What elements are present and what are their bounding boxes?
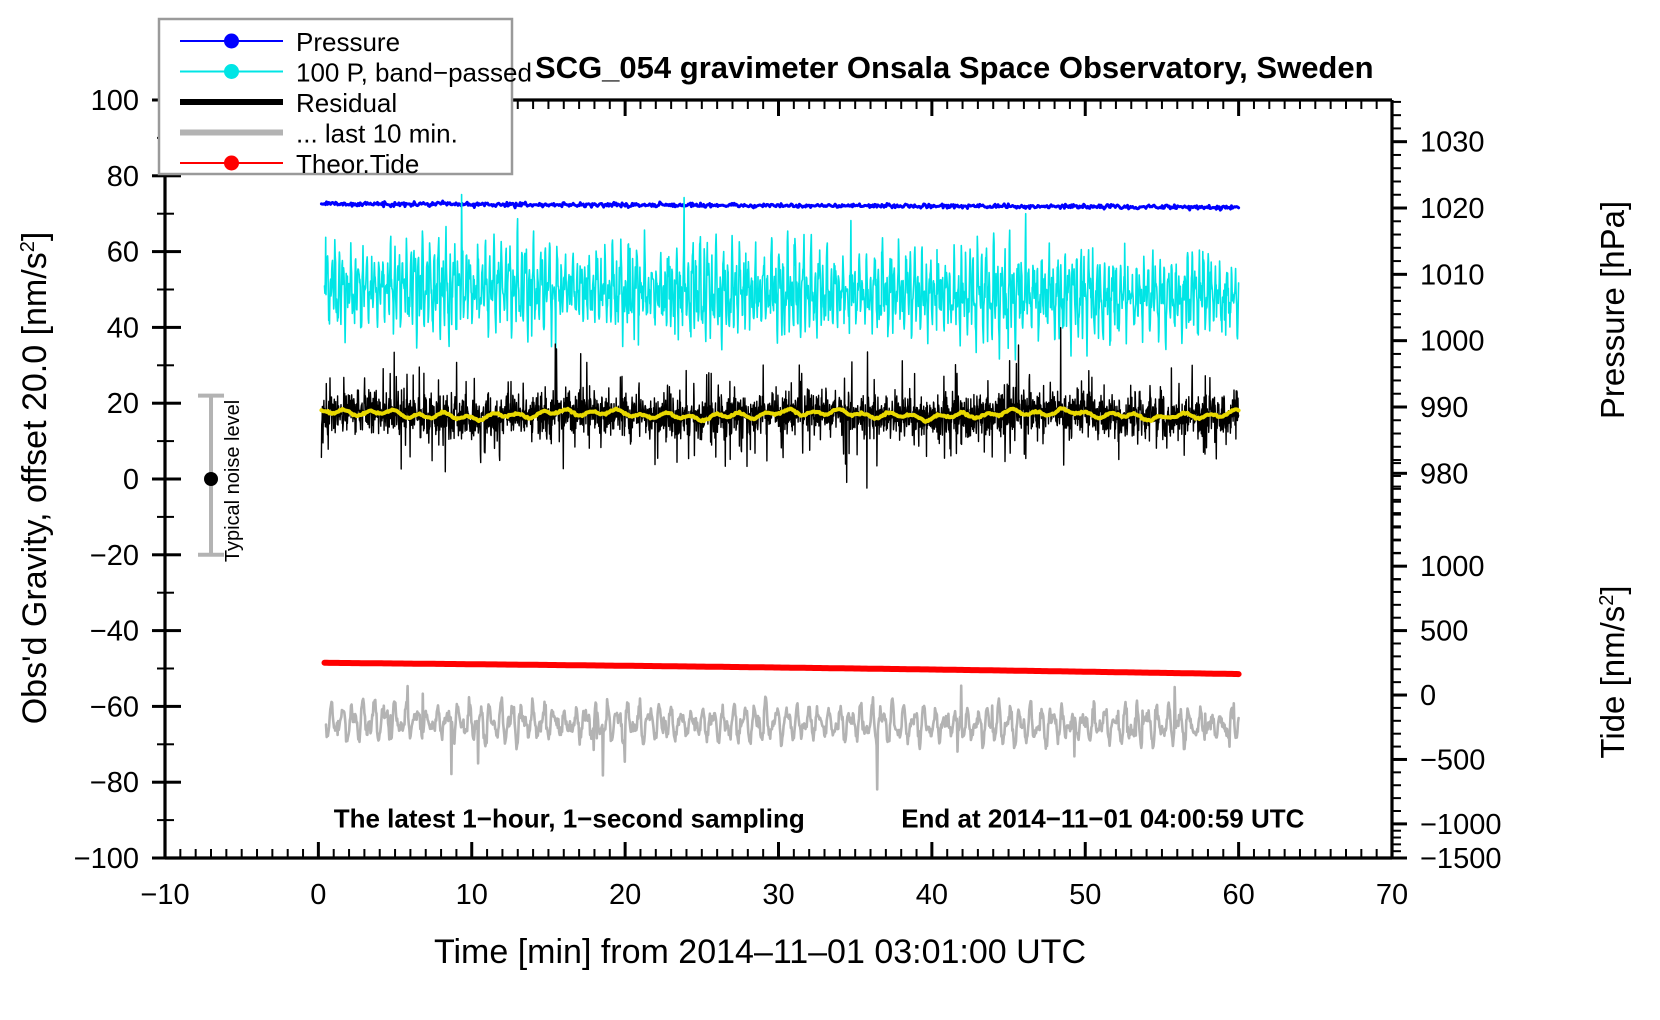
pressure-tick-label: 990 [1420, 392, 1468, 424]
legend-item-label: ... last 10 min. [296, 119, 458, 149]
tide-tick-label: −500 [1420, 744, 1485, 776]
x-tick-label: 60 [1222, 879, 1254, 911]
y-tick-label: 40 [107, 312, 139, 344]
y-tick-label: 0 [123, 464, 139, 496]
right-axis-pressure-title: Pressure [hPa] [1594, 201, 1631, 419]
legend-item-label: Residual [296, 88, 397, 118]
y-tick-label: −100 [74, 843, 139, 875]
right-axis-tide-title-group: Tide [nm/s2] [1594, 585, 1631, 758]
x-tick-label: −10 [140, 879, 189, 911]
y-axis-title: Obs'd Gravity, offset 20.0 [nm/s2] [16, 232, 54, 725]
pressure-tick-label: 980 [1420, 458, 1468, 490]
x-tick-label: 10 [456, 879, 488, 911]
x-axis-title: Time [min] from 2014–11–01 03:01:00 UTC [434, 933, 1086, 971]
x-tick-label: 70 [1376, 879, 1408, 911]
noise-level-label: Typical noise level [222, 400, 244, 562]
legend-item-label: Pressure [296, 27, 400, 57]
y-tick-label: −20 [90, 540, 139, 572]
right-axis-tide-title: Tide [nm/s2] [1594, 585, 1631, 758]
pressure-tick-label: 1030 [1420, 127, 1485, 159]
chart-canvas: −10010203040506070100806040200−20−40−60−… [0, 0, 1660, 1020]
y-tick-label: 60 [107, 237, 139, 269]
x-tick-label: 50 [1069, 879, 1101, 911]
x-tick-label: 0 [310, 879, 326, 911]
gravimeter-chart-figure: −10010203040506070100806040200−20−40−60−… [0, 0, 1660, 1020]
chart-legend: Pressure100 P, band−passedResidual... la… [159, 19, 532, 179]
end-time-note: End at 2014−11−01 04:00:59 UTC [901, 804, 1304, 834]
right-axis-pressure-title-group: Pressure [hPa] [1594, 201, 1631, 419]
y-tick-label: −80 [90, 767, 139, 799]
x-tick-label: 20 [609, 879, 641, 911]
pressure-tick-label: 1010 [1420, 259, 1485, 291]
legend-swatch-marker [224, 64, 239, 79]
legend-item-label: 100 P, band−passed [296, 58, 532, 88]
legend-swatch-marker [224, 156, 239, 171]
x-tick-label: 30 [762, 879, 794, 911]
noise-center-dot [204, 472, 218, 486]
pressure-tick-label: 1020 [1420, 193, 1485, 225]
sampling-note: The latest 1−hour, 1−second sampling [334, 804, 805, 834]
y-axis-title-group: Obs'd Gravity, offset 20.0 [nm/s2] [16, 232, 54, 725]
y-tick-label: −60 [90, 691, 139, 723]
tide-tick-label: 1000 [1420, 551, 1485, 583]
chart-title: SCG_054 gravimeter Onsala Space Observat… [535, 50, 1374, 85]
noise-label-group: Typical noise level [222, 400, 244, 562]
legend-swatch-marker [224, 34, 239, 49]
y-tick-label: 80 [107, 161, 139, 193]
y-tick-label: 20 [107, 388, 139, 420]
x-tick-label: 40 [916, 879, 948, 911]
legend-item-label: Theor.Tide [296, 149, 419, 179]
tide-tick-label: −1500 [1420, 843, 1501, 875]
tide-tick-label: 500 [1420, 616, 1468, 648]
pressure-tick-label: 1000 [1420, 326, 1485, 358]
y-tick-label: 100 [91, 85, 139, 117]
tide-tick-label: −1000 [1420, 809, 1501, 841]
tide-tick-label: 0 [1420, 680, 1436, 712]
y-tick-label: −40 [90, 616, 139, 648]
